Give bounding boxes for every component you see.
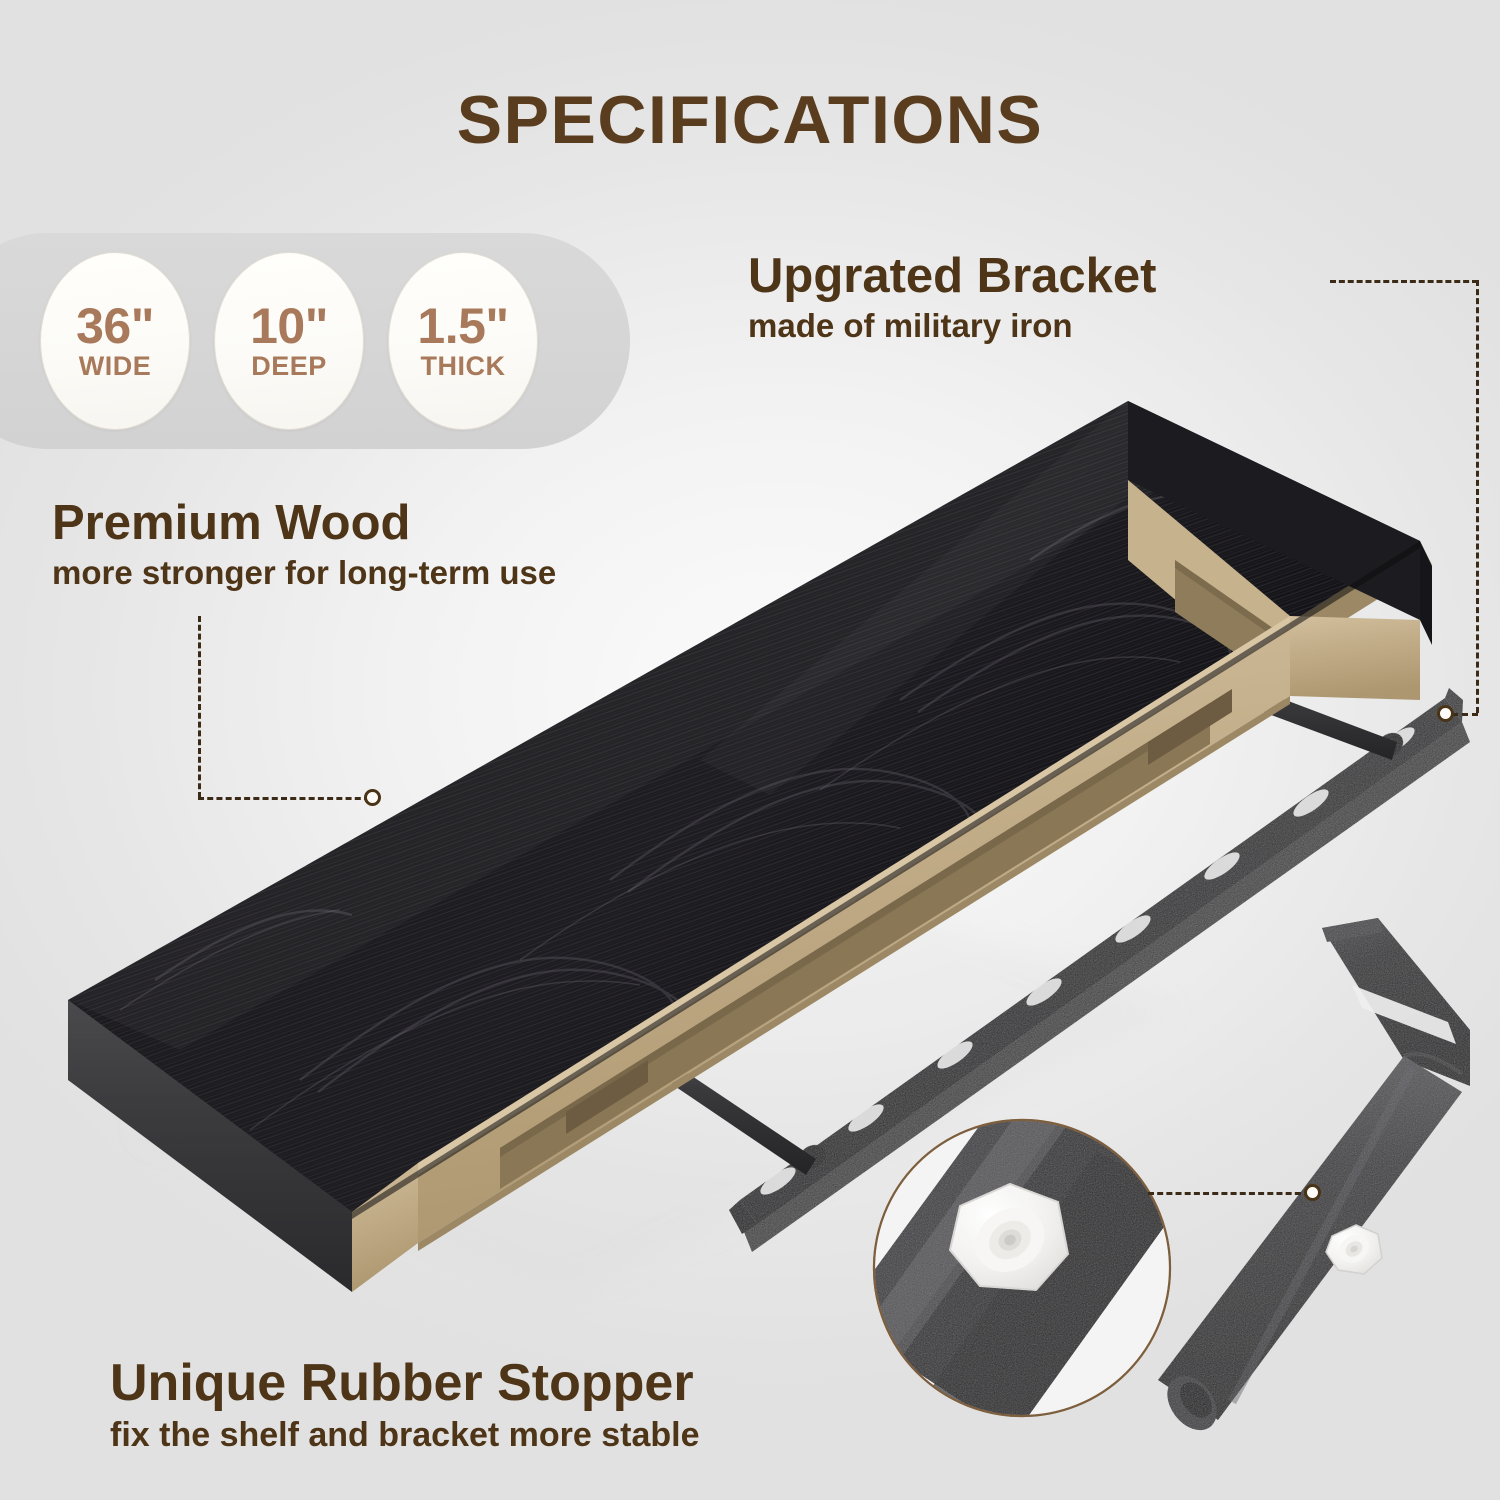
spec-badge-width-value: 36": [76, 302, 154, 350]
callout-rubber-stopper: Unique Rubber Stopper fix the shelf and …: [110, 1355, 700, 1455]
callout-bracket-subtext: made of military iron: [748, 307, 1156, 346]
leader-endpoint-dot-wood: [364, 789, 381, 806]
callout-rubber-subtext: fix the shelf and bracket more stable: [110, 1415, 700, 1455]
leader-bracket-horizontal-bottom: [1452, 713, 1478, 716]
spec-badge-width: 36" WIDE: [40, 252, 190, 430]
callout-bracket-heading: Upgrated Bracket: [748, 250, 1156, 303]
spec-badge-depth-label: DEEP: [251, 352, 327, 380]
leader-wood-vertical: [198, 616, 201, 798]
spec-badge-thickness-value: 1.5": [417, 302, 508, 350]
infographic-stage: SPECIFICATIONS 36" WIDE 10" DEEP 1.5" TH…: [0, 0, 1500, 1500]
spec-badge-thickness: 1.5" THICK: [388, 252, 538, 430]
spec-badge-depth: 10" DEEP: [214, 252, 364, 430]
leader-bracket-vertical: [1476, 280, 1479, 713]
dimension-spec-badge-group: 36" WIDE 10" DEEP 1.5" THICK: [40, 252, 538, 430]
callout-premium-wood: Premium Wood more stronger for long-term…: [52, 497, 556, 593]
callout-wood-heading: Premium Wood: [52, 497, 556, 550]
spec-badge-depth-value: 10": [250, 302, 328, 350]
leader-endpoint-dot-bracket: [1437, 705, 1454, 722]
callout-upgraded-bracket: Upgrated Bracket made of military iron: [748, 250, 1156, 346]
callout-wood-subtext: more stronger for long-term use: [52, 554, 556, 593]
detached-bracket: [1157, 918, 1470, 1440]
page-title: SPECIFICATIONS: [0, 86, 1500, 154]
leader-wood-horizontal: [198, 797, 370, 800]
leader-endpoint-dot-rubber: [1304, 1184, 1321, 1201]
product-illustration: [0, 0, 1500, 1500]
spec-badge-thickness-label: THICK: [421, 352, 506, 380]
leader-bracket-horizontal-top: [1330, 280, 1478, 283]
callout-rubber-heading: Unique Rubber Stopper: [110, 1355, 700, 1411]
leader-rubber-horizontal: [1148, 1192, 1310, 1195]
spec-badge-width-label: WIDE: [79, 352, 152, 380]
